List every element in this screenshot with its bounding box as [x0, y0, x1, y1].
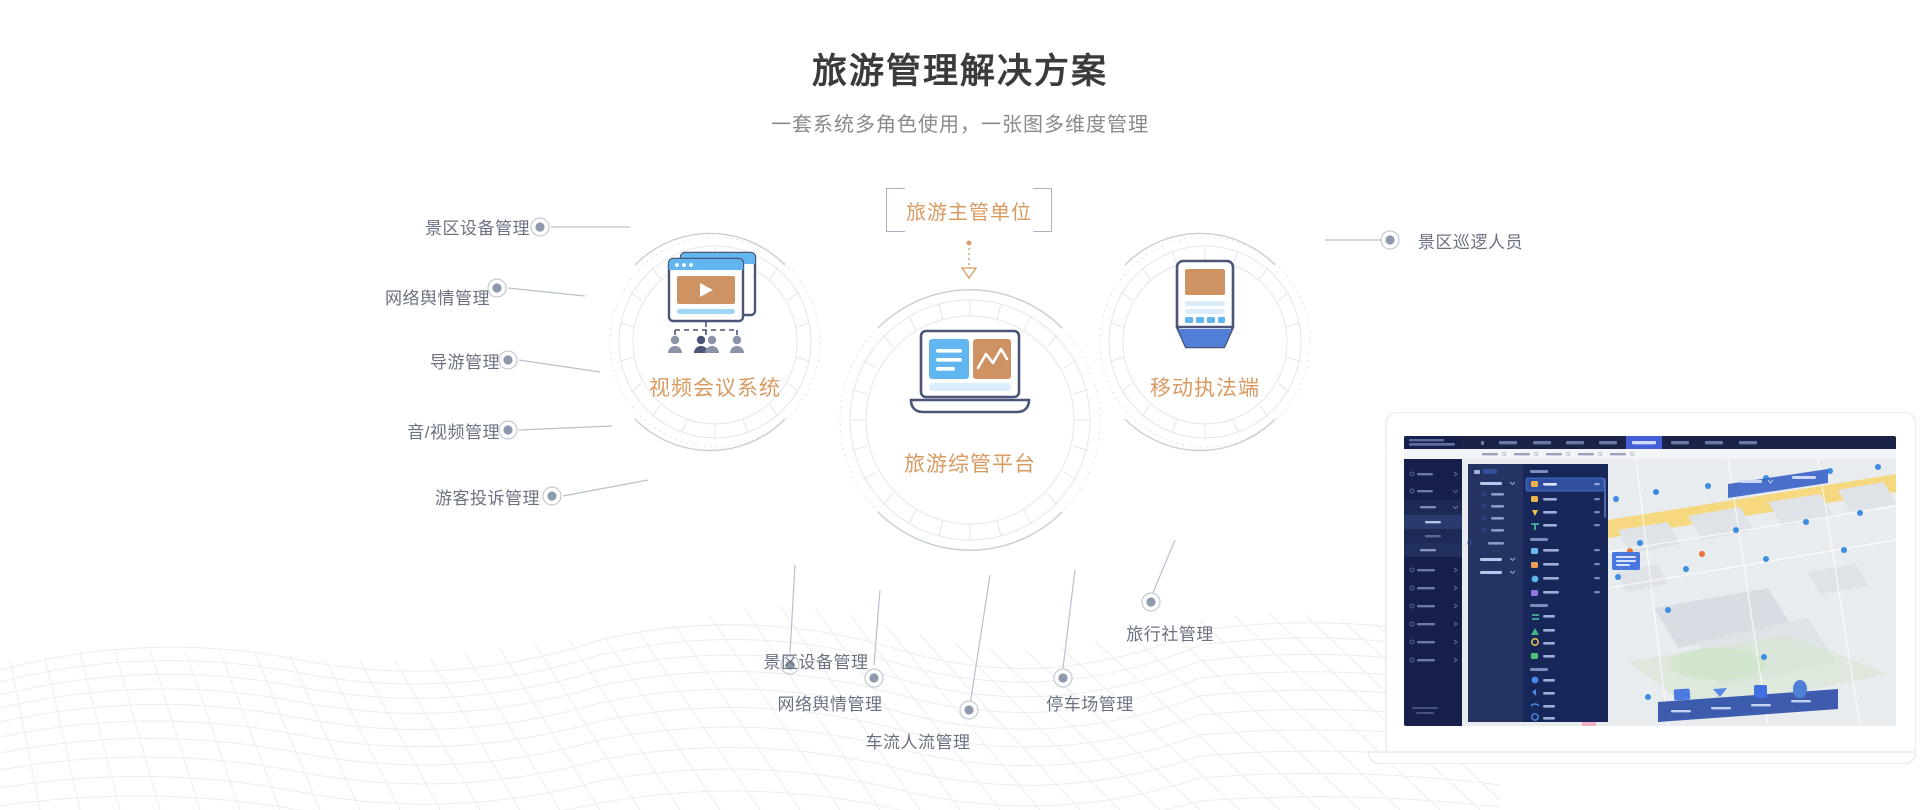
video-player-icon — [655, 249, 775, 354]
page-subtitle: 一套系统多角色使用，一张图多维度管理 — [0, 108, 1920, 137]
laptop-dashboard-icon — [905, 328, 1035, 420]
hub-badge-label: 旅游主管单位 — [886, 188, 1052, 232]
connector-label-bottom-2: 网络舆情管理 — [730, 690, 930, 715]
connector-label-bottom-5: 旅行社管理 — [1080, 620, 1260, 645]
connector-label-left-1: 景区设备管理 — [280, 214, 530, 239]
node-label-tourism-platform: 旅游综管平台 — [840, 448, 1100, 478]
connector-label-left-5: 游客投诉管理 — [290, 484, 540, 509]
laptop-base — [1368, 752, 1916, 764]
solution-diagram-page: 旅游管理解决方案 一套系统多角色使用，一张图多维度管理 景区设备管理 网络舆情管… — [0, 0, 1920, 810]
ring-tourism-platform — [830, 280, 1110, 560]
connector-label-right-1: 景区巡逻人员 — [1418, 228, 1523, 253]
dashboard-sidebar — [1404, 459, 1462, 726]
hub-badge-supervisor[interactable]: 旅游主管单位 — [886, 188, 1052, 232]
page-title: 旅游管理解决方案 — [0, 43, 1920, 94]
connector-label-left-3: 导游管理 — [250, 348, 500, 373]
dotted-down-arrow-icon — [957, 240, 981, 280]
handheld-terminal-icon — [1167, 259, 1243, 357]
connector-label-bottom-3: 车流人流管理 — [818, 728, 1018, 753]
connector-label-bottom-1: 景区设备管理 — [726, 648, 906, 673]
connector-label-left-4: 音/视频管理 — [250, 418, 500, 443]
node-tourism-platform[interactable]: 旅游综管平台 — [830, 280, 1110, 560]
dashboard-screenshot — [1404, 436, 1896, 726]
node-label-video-conference: 视频会议系统 — [585, 372, 845, 402]
node-label-mobile-enforcement: 移动执法端 — [1075, 372, 1335, 402]
connector-label-left-2: 网络舆情管理 — [240, 284, 490, 309]
node-video-conference[interactable]: 视频会议系统 — [600, 227, 830, 457]
laptop-mockup — [1368, 412, 1916, 764]
node-mobile-enforcement[interactable]: 移动执法端 — [1090, 227, 1320, 457]
connector-label-bottom-4: 停车场管理 — [1000, 690, 1180, 715]
